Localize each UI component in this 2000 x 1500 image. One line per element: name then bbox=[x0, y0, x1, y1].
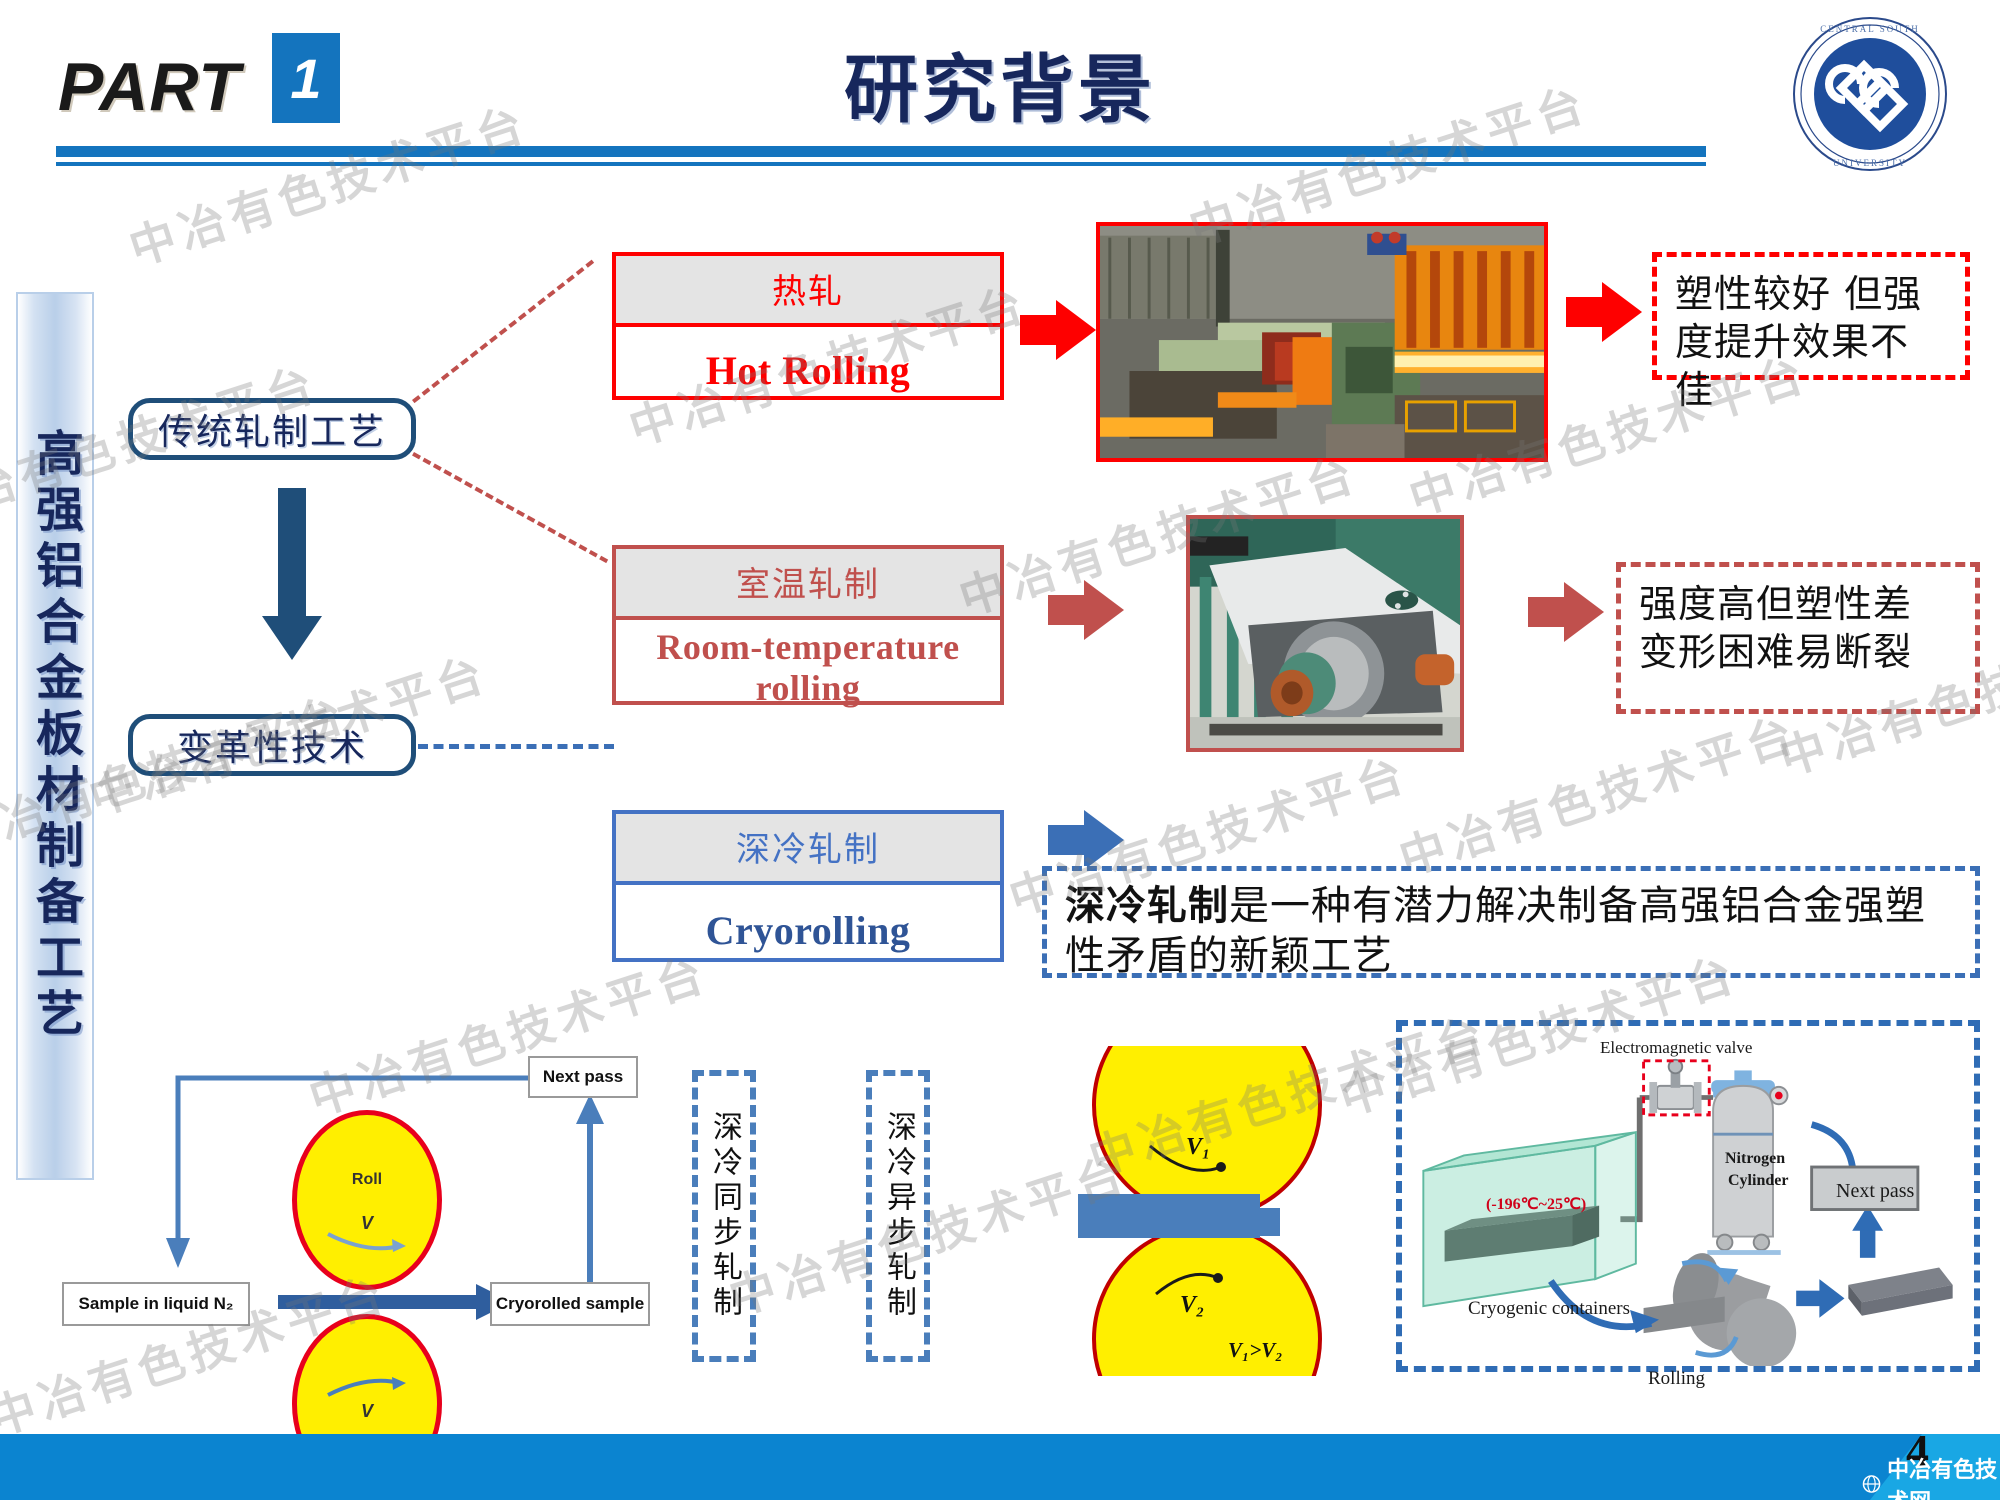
university-logo-icon: CENTRAL SOUTH UNIVERSITY bbox=[1790, 14, 1950, 174]
asym-v1-label: V₁ bbox=[1186, 1134, 1210, 1161]
globe-icon bbox=[1862, 1471, 1881, 1497]
vlabel-asymmetric-cryorolling: 深冷异步轧制 bbox=[866, 1070, 930, 1362]
cryo-panel-container-label: Cryogenic containers bbox=[1468, 1298, 1630, 1320]
schematic-top-roll-label: Roll bbox=[352, 1171, 382, 1189]
card-room-cn-label: 室温轧制 bbox=[616, 549, 1000, 620]
process-card-room-temperature-rolling[interactable]: 室温轧制 Room-temperature rolling bbox=[612, 545, 1004, 705]
vlabel-symmetric-cryorolling: 深冷同步轧制 bbox=[692, 1070, 756, 1362]
footer-bar bbox=[0, 1434, 2000, 1500]
connector-to-hot-rolling bbox=[412, 260, 594, 404]
cryo-panel-next-pass-label: Next pass bbox=[1836, 1180, 1914, 1203]
schematic-next-pass-label: Next pass bbox=[543, 1067, 623, 1087]
arrow-hot-to-photo bbox=[1020, 300, 1096, 360]
process-card-cryorolling[interactable]: 深冷轧制 Cryorolling bbox=[612, 810, 1004, 962]
header-rule-thick bbox=[56, 146, 1706, 157]
card-cryo-cn-label: 深冷轧制 bbox=[616, 814, 1000, 885]
svg-text:UNIVERSITY: UNIVERSITY bbox=[1833, 158, 1907, 168]
cold-rolling-mill-photo bbox=[1186, 515, 1464, 752]
arrow-photo-to-room-callout bbox=[1528, 582, 1604, 642]
process-card-hot-rolling[interactable]: 热轧 Hot Rolling bbox=[612, 252, 1004, 400]
vlabel-symmetric-text: 深冷同步轧制 bbox=[709, 1111, 739, 1321]
schematic-bottom-roll-rotation-icon bbox=[322, 1375, 412, 1399]
callout-cryo-bold: 深冷轧制 bbox=[1065, 883, 1229, 929]
connector-to-room-rolling bbox=[412, 452, 608, 563]
callout-cryorolling-summary: 深冷轧制是一种有潜力解决制备高强铝合金强塑性矛盾的新颖工艺 bbox=[1042, 866, 1980, 978]
watermark-badge: 中冶有色技术网 bbox=[1862, 1452, 2000, 1500]
cryo-panel-valve-label: Electromagnetic valve bbox=[1600, 1038, 1752, 1058]
schematic-top-roll: Roll V bbox=[292, 1110, 442, 1290]
arrow-room-to-photo bbox=[1048, 580, 1124, 640]
schematic-next-pass-box: Next pass bbox=[528, 1056, 638, 1098]
callout-room-rolling-result: 强度高但塑性差 变形困难易断裂 bbox=[1616, 562, 1980, 714]
connector-to-cryorolling bbox=[418, 744, 614, 749]
asymmetric-rolling-diagram: V₁ V₂ V₁>V₂ (b) bbox=[1078, 1046, 1340, 1376]
node-innovative-label: 变革性技术 bbox=[177, 719, 367, 771]
schematic-cryorolled-sample-box: Cryorolled sample bbox=[490, 1282, 650, 1326]
schematic-bottom-roll-velocity: V bbox=[361, 1401, 373, 1422]
sidebar-vertical-title: 高强铝合金板材制备工艺 bbox=[31, 428, 79, 1044]
asym-relation-label: V₁>V₂ bbox=[1228, 1338, 1283, 1363]
cryo-panel-temperature-range: (-196℃~25℃) bbox=[1486, 1194, 1586, 1214]
hot-rolling-mill-photo bbox=[1096, 222, 1548, 462]
card-room-en-label: Room-temperature rolling bbox=[616, 620, 1000, 716]
svg-text:CENTRAL SOUTH: CENTRAL SOUTH bbox=[1820, 24, 1919, 34]
asym-rotation-icons bbox=[1078, 1046, 1340, 1376]
cryorolling-process-schematic: Next pass Sample in liquid N₂ Cryorolled… bbox=[60, 1020, 660, 1370]
cryo-panel-cylinder-label-1: Nitrogen bbox=[1725, 1150, 1785, 1168]
cryo-panel-cylinder-label-2: Cylinder bbox=[1728, 1172, 1788, 1190]
schematic-cryorolled-sample-label: Cryorolled sample bbox=[496, 1294, 644, 1314]
node-innovative-technology[interactable]: 变革性技术 bbox=[128, 714, 416, 776]
schematic-sample-label: Sample in liquid N₂ bbox=[79, 1294, 234, 1314]
cryo-panel-rolling-label: Rolling bbox=[1648, 1368, 1705, 1390]
node-traditional-label: 传统轧制工艺 bbox=[158, 403, 386, 455]
schematic-sample-box: Sample in liquid N₂ bbox=[62, 1282, 250, 1326]
header-rule-thin bbox=[56, 162, 1706, 166]
card-hot-en-label: Hot Rolling bbox=[616, 327, 1000, 413]
arrow-cryo-to-callout bbox=[1048, 810, 1124, 870]
card-cryo-en-label: Cryorolling bbox=[616, 885, 1000, 975]
callout-hot-rolling-result: 塑性较好 但强度提升效果不佳 bbox=[1652, 252, 1970, 380]
asym-v2-label: V₂ bbox=[1180, 1292, 1204, 1319]
arrow-photo-to-hot-callout bbox=[1566, 282, 1642, 342]
vlabel-asymmetric-text: 深冷异步轧制 bbox=[883, 1111, 913, 1321]
cryogenic-rolling-system-panel: Electromagnetic valve Nitrogen Cylinder … bbox=[1396, 1020, 1980, 1372]
watermark-badge-text: 中冶有色技术网 bbox=[1887, 1452, 2000, 1500]
card-hot-cn-label: 热轧 bbox=[616, 256, 1000, 327]
schematic-top-roll-rotation-icon bbox=[322, 1228, 412, 1252]
page-title: 研究背景 bbox=[0, 30, 2000, 137]
node-traditional-rolling[interactable]: 传统轧制工艺 bbox=[128, 398, 416, 460]
slide-canvas: PART 1 研究背景 CENTRAL SOUTH UNIVERSITY 高强铝… bbox=[0, 0, 2000, 1500]
